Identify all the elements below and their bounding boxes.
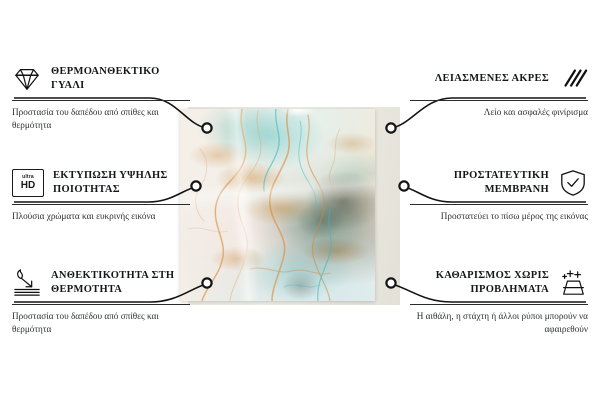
feature-header: ΑΝΘΕΚΤΙΚΟΤΗΤΑ ΣΤΗ ΘΕΡΜΟΤΗΤΑ [12, 266, 190, 300]
feature-title: ΕΚΤΥΠΩΣΗ ΥΨΗΛΗΣ ΠΟΙΟΤΗΤΑΣ [53, 169, 190, 197]
ultra-hd-badge-icon: ultra HD [12, 169, 44, 197]
feature-description: Πλούσια χρώματα και ευκρινής εικόνα [12, 210, 190, 223]
feature-description: Προστατεύει το πίσω μέρος της εικόνας [410, 210, 588, 223]
feature-title: ΘΕΡΜΟΑΝΘΕΚΤΙΚΟ ΓΥΑΛΙ [51, 65, 190, 93]
product-image [180, 107, 400, 305]
feature-protective-film: ΠΡΟΣΤΑΤΕΥΤΙΚΗ ΜΕΜΒΡΑΝΗ Προστατεύει το πί… [410, 166, 588, 223]
infographic-canvas: ΘΕΡΜΟΑΝΘΕΚΤΙΚΟ ΓΥΑΛΙ Προστασία του δαπέδ… [0, 0, 600, 400]
feature-heat-durability: ΑΝΘΕΚΤΙΚΟΤΗΤΑ ΣΤΗ ΘΕΡΜΟΤΗΤΑ Προστασία το… [12, 266, 190, 337]
feature-header: ΘΕΡΜΟΑΝΘΕΚΤΙΚΟ ΓΥΑΛΙ [12, 62, 190, 96]
feature-description: Προστασία του δαπέδου από σπίθες και θερ… [12, 310, 190, 337]
glass-highlight [281, 109, 315, 117]
connector-dot [399, 181, 408, 190]
feature-header: ΛΕΙΑΣΜΕΝΕΣ ΑΚΡΕΣ [410, 62, 588, 96]
divider [12, 204, 190, 205]
feature-description: Προστασία του δαπέδου από σπίθες και θερ… [12, 106, 190, 133]
feature-polished-edges: ΛΕΙΑΣΜΕΝΕΣ ΑΚΡΕΣ Λείο και ασφαλές φινίρι… [410, 62, 588, 119]
feature-title: ΛΕΙΑΣΜΕΝΕΣ ΑΚΡΕΣ [435, 72, 549, 86]
divider [410, 100, 588, 101]
ultra-hd-badge-bottom: HD [21, 181, 35, 191]
divider [410, 304, 588, 305]
feature-title: ΚΑΘΑΡΙΣΜΟΣ ΧΩΡΙΣ ΠΡΟΒΛΗΜΑΤΑ [410, 269, 549, 297]
heat-resistance-icon [12, 269, 42, 297]
feature-title: ΠΡΟΣΤΑΤΕΥΤΙΚΗ ΜΕΜΒΡΑΝΗ [410, 169, 549, 197]
feature-easy-cleaning: ΚΑΘΑΡΙΣΜΟΣ ΧΩΡΙΣ ΠΡΟΒΛΗΜΑΤΑ Η αιθάλη, η … [410, 266, 588, 337]
feature-description: Η αιθάλη, η στάχτη ή άλλοι ρύποι μπορούν… [410, 310, 588, 337]
divider [12, 304, 190, 305]
feature-header: ΠΡΟΣΤΑΤΕΥΤΙΚΗ ΜΕΜΒΡΑΝΗ [410, 166, 588, 200]
feature-title: ΑΝΘΕΚΤΙΚΟΤΗΤΑ ΣΤΗ ΘΕΡΜΟΤΗΤΑ [51, 269, 190, 297]
feature-description: Λείο και ασφαλές φινίρισμα [410, 106, 588, 119]
ink-vein-lines [180, 109, 375, 301]
diamond-icon [12, 65, 42, 93]
shield-check-icon [558, 169, 588, 197]
feature-heat-resistant-glass: ΘΕΡΜΟΑΝΘΕΚΤΙΚΟ ΓΥΑΛΙ Προστασία του δαπέδ… [12, 62, 190, 133]
feature-high-quality-print: ultra HD ΕΚΤΥΠΩΣΗ ΥΨΗΛΗΣ ΠΟΙΟΤΗΤΑΣ Πλούσ… [12, 166, 190, 223]
feature-header: ΚΑΘΑΡΙΣΜΟΣ ΧΩΡΙΣ ΠΡΟΒΛΗΜΑΤΑ [410, 266, 588, 300]
glass-panel [180, 109, 375, 301]
feature-header: ultra HD ΕΚΤΥΠΩΣΗ ΥΨΗΛΗΣ ΠΟΙΟΤΗΤΑΣ [12, 166, 190, 200]
divider [410, 204, 588, 205]
divider [12, 100, 190, 101]
easy-cleaning-icon [558, 269, 588, 297]
polished-edges-icon [558, 65, 588, 93]
